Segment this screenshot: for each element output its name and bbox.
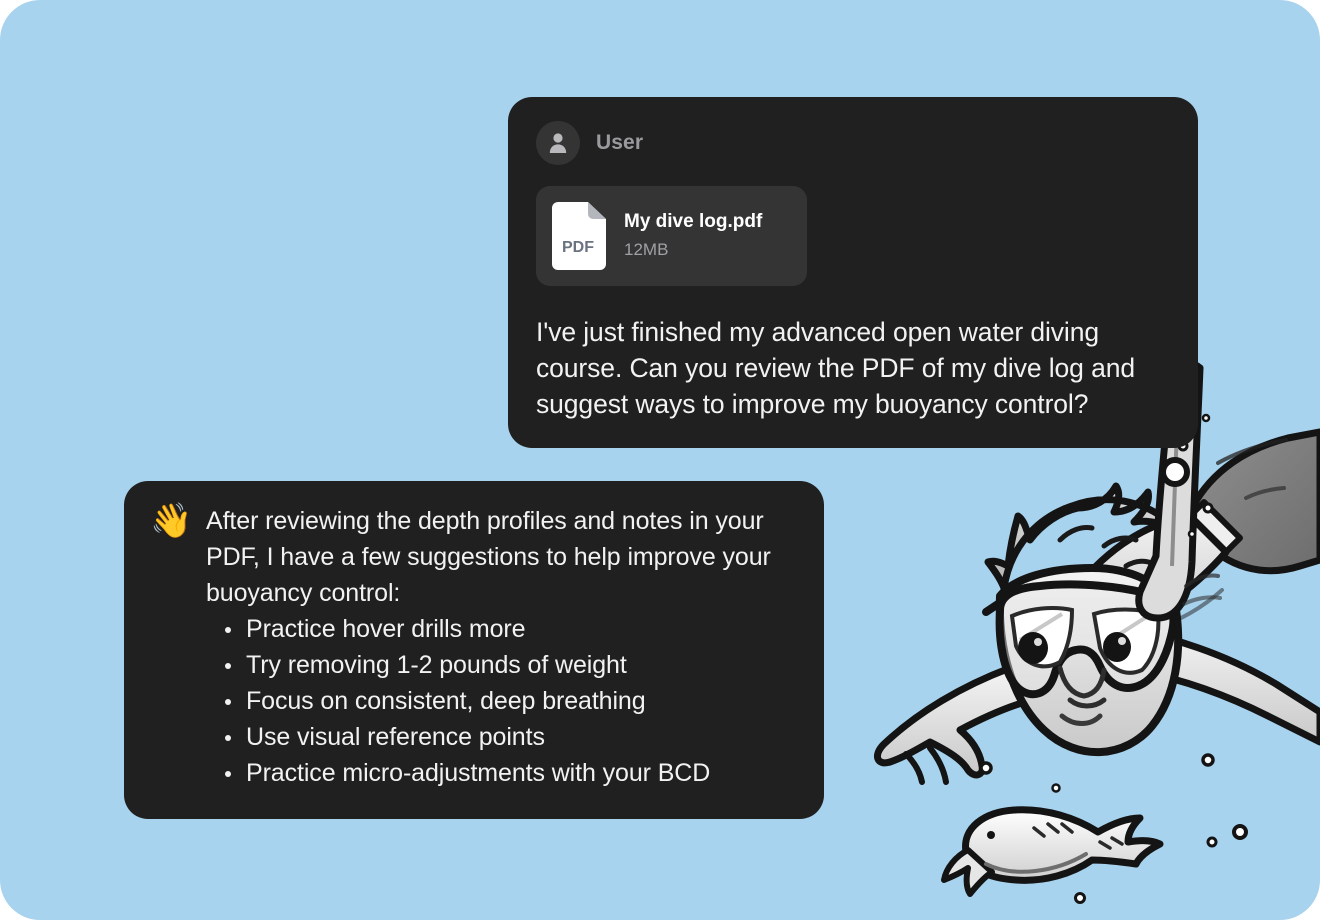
attachment-file-name: My dive log.pdf xyxy=(624,210,762,234)
page-root: User PDF My dive log.pdf 12MB I've just … xyxy=(0,0,1320,920)
user-message-bubble: User PDF My dive log.pdf 12MB I've just … xyxy=(508,97,1198,448)
pdf-file-icon: PDF xyxy=(552,202,606,270)
pdf-attachment-card[interactable]: PDF My dive log.pdf 12MB xyxy=(536,186,807,286)
assistant-message-bubble: 👋 After reviewing the depth profiles and… xyxy=(124,481,824,819)
air-bubbles xyxy=(981,390,1246,903)
user-role-label: User xyxy=(596,131,643,155)
person-avatar-icon xyxy=(536,121,580,165)
waving-hand-icon: 👋 xyxy=(150,503,206,791)
assistant-intro-text: After reviewing the depth profiles and n… xyxy=(206,503,798,611)
attachment-meta: My dive log.pdf 12MB xyxy=(624,210,762,262)
list-item: Try removing 1-2 pounds of weight xyxy=(206,647,798,683)
list-item: Practice hover drills more xyxy=(206,611,798,647)
assistant-text-block: After reviewing the depth profiles and n… xyxy=(206,503,798,791)
list-item: Focus on consistent, deep breathing xyxy=(206,683,798,719)
assistant-message-body: 👋 After reviewing the depth profiles and… xyxy=(150,503,798,791)
suggestion-list: Practice hover drills more Try removing … xyxy=(206,611,798,791)
attachment-file-size: 12MB xyxy=(624,238,762,262)
list-item: Use visual reference points xyxy=(206,719,798,755)
fish-illustration xyxy=(944,810,1160,894)
user-message-text: I've just finished my advanced open wate… xyxy=(536,314,1170,422)
pdf-icon-label: PDF xyxy=(562,239,594,256)
user-message-header: User xyxy=(536,121,1170,165)
list-item: Practice micro-adjustments with your BCD xyxy=(206,755,798,791)
